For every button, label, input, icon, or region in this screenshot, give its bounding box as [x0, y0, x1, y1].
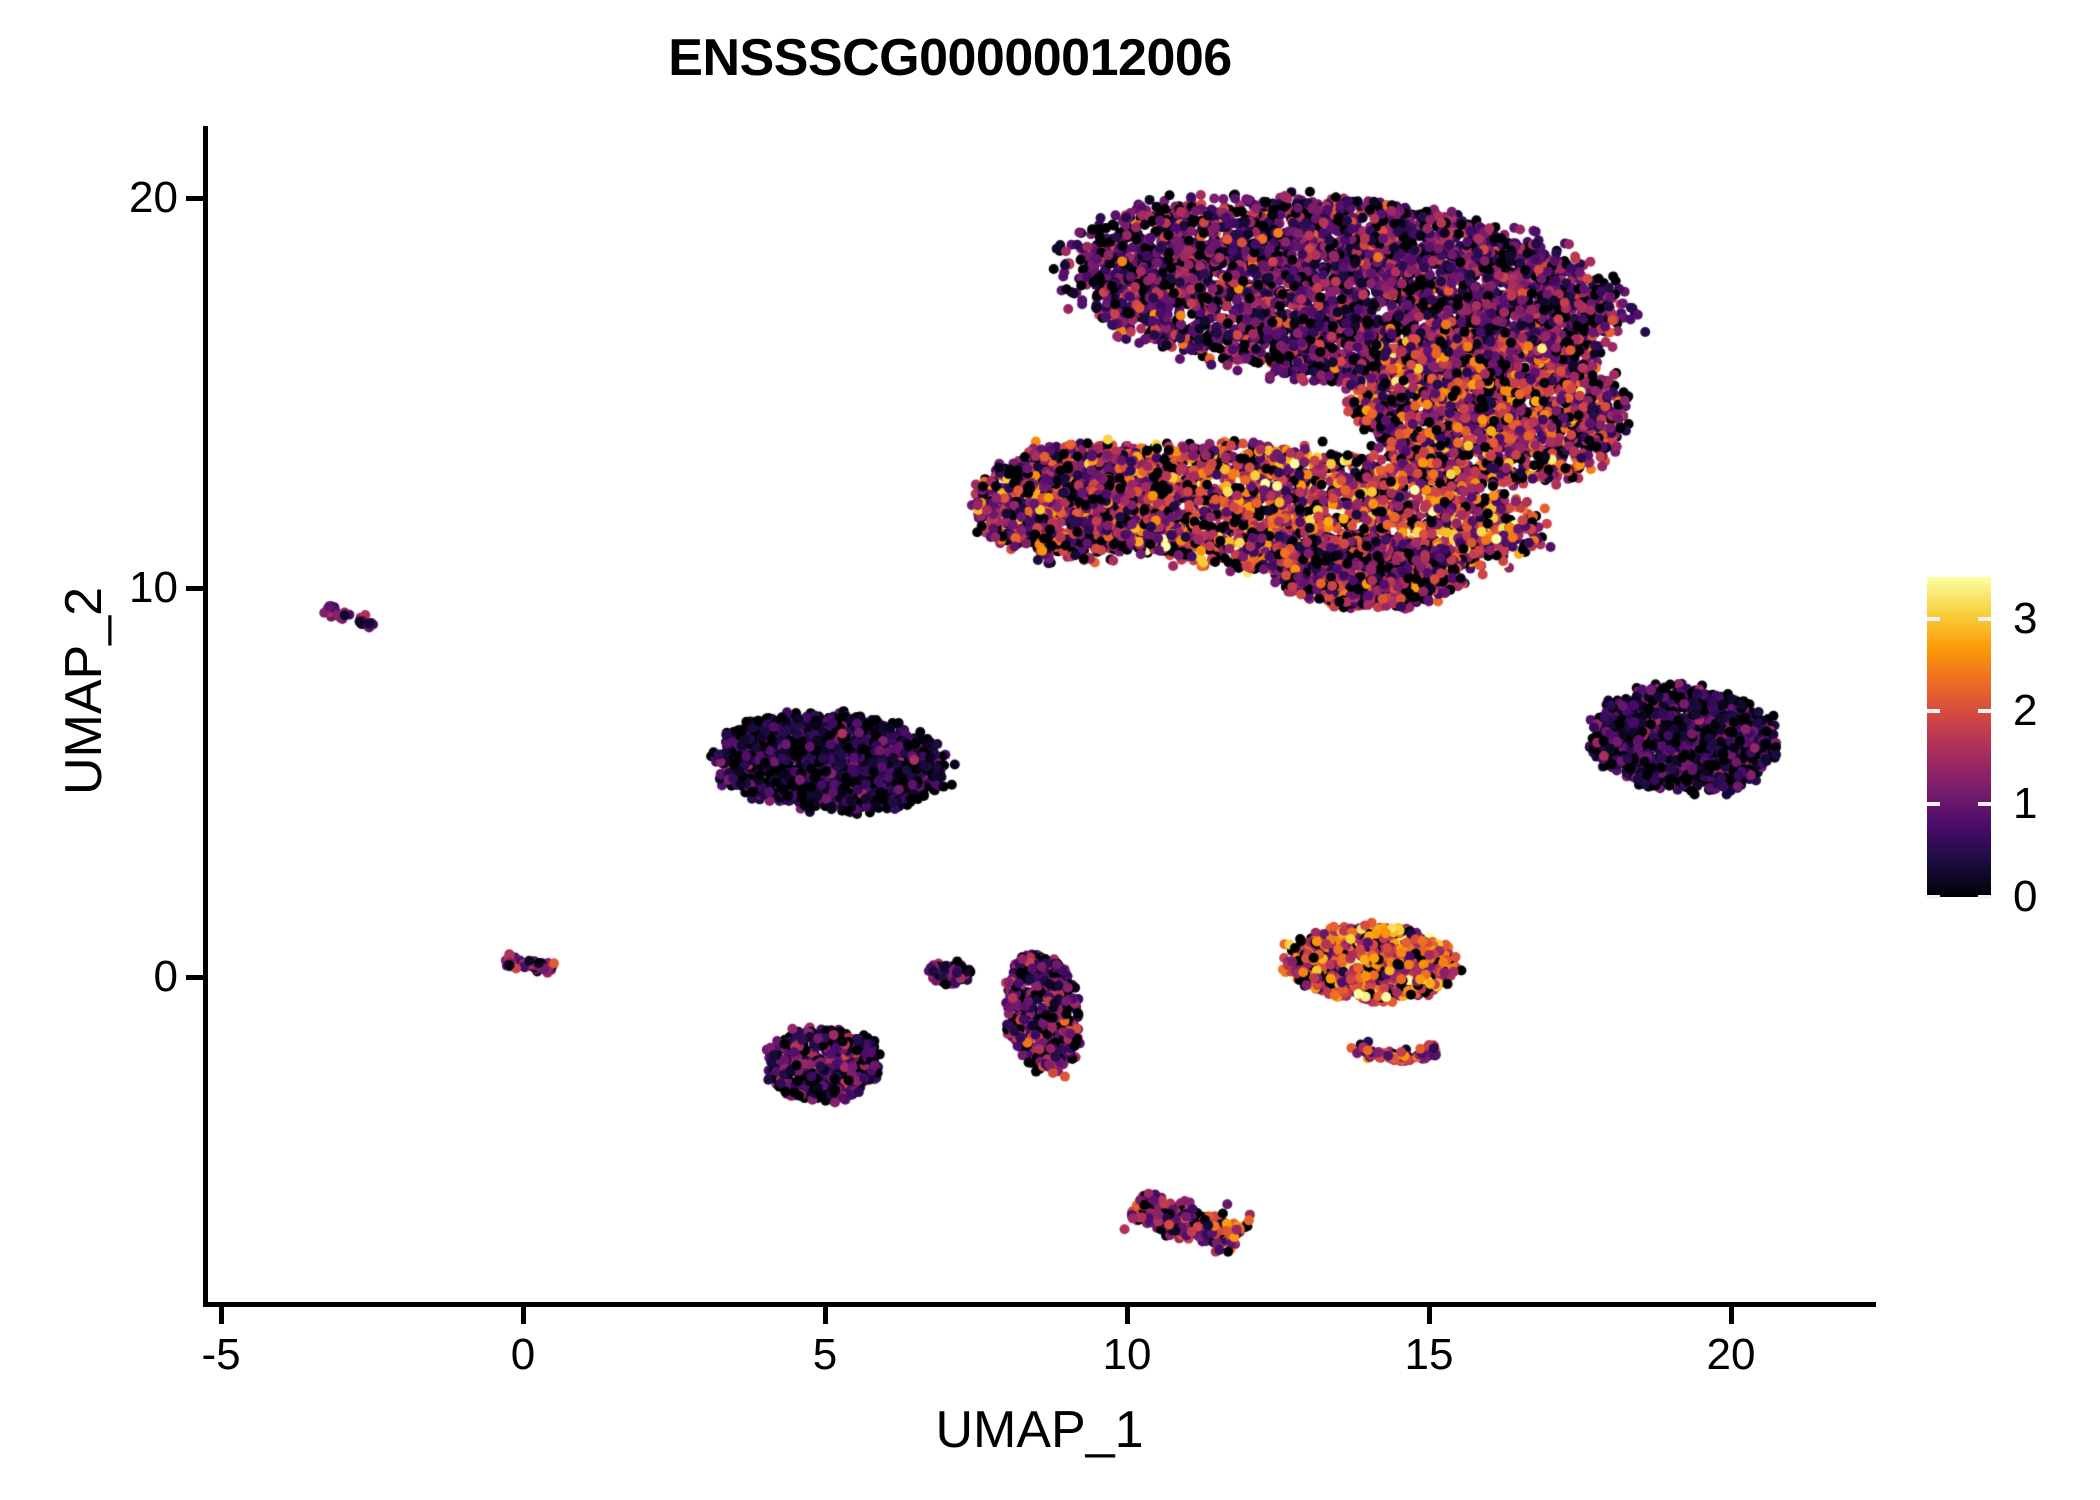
y-axis-line — [203, 126, 208, 1307]
colorbar-tick-label: 3 — [2013, 594, 2037, 644]
y-tick-label: 20 — [129, 173, 178, 223]
x-tick-mark — [521, 1307, 526, 1324]
colorbar-tick-label: 1 — [2013, 779, 2037, 829]
colorbar-tick-mark — [1927, 802, 1940, 806]
colorbar-tick-mark — [1927, 709, 1940, 713]
colorbar-tick-mark — [1927, 895, 1940, 899]
x-tick-label: 5 — [813, 1330, 837, 1380]
colorbar-tick-mark — [1978, 895, 1991, 899]
x-axis-title: UMAP_1 — [203, 1400, 1876, 1460]
x-axis-line — [203, 1302, 1876, 1307]
x-tick-mark — [1427, 1307, 1432, 1324]
x-tick-label: 0 — [511, 1330, 535, 1380]
x-tick-label: -5 — [201, 1330, 240, 1380]
x-tick-label: 20 — [1707, 1330, 1756, 1380]
colorbar-tick-mark — [1978, 617, 1991, 621]
colorbar-tick-label: 0 — [2013, 872, 2037, 922]
colorbar-tick-mark — [1978, 709, 1991, 713]
y-tick-mark — [186, 196, 203, 201]
scatter-plot-canvas — [0, 0, 2100, 1500]
x-tick-label: 15 — [1405, 1330, 1454, 1380]
x-tick-mark — [219, 1307, 224, 1324]
x-tick-mark — [823, 1307, 828, 1324]
colorbar-tick-mark — [1978, 802, 1991, 806]
colorbar-tick-label: 2 — [2013, 686, 2037, 736]
colorbar-tick-mark — [1927, 617, 1940, 621]
y-axis-title: UMAP_2 — [54, 291, 114, 1091]
y-tick-mark — [186, 586, 203, 591]
x-tick-mark — [1729, 1307, 1734, 1324]
y-tick-label: 10 — [129, 563, 178, 613]
colorbar-legend — [1927, 577, 1991, 897]
page-title: ENSSSCG00000012006 — [0, 28, 1900, 88]
colorbar-gradient — [1927, 577, 1991, 897]
y-tick-mark — [186, 975, 203, 980]
x-tick-label: 10 — [1103, 1330, 1152, 1380]
umap-feature-plot: ENSSSCG00000012006 01020 -505101520 UMAP… — [0, 0, 2100, 1500]
x-tick-mark — [1125, 1307, 1130, 1324]
y-tick-label: 0 — [154, 952, 178, 1002]
